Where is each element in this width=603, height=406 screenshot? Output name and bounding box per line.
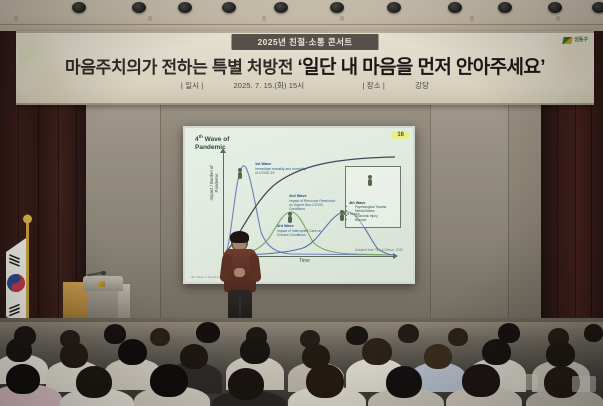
audience-head-front	[6, 364, 40, 394]
ceiling-spotlight-icon	[498, 2, 512, 13]
speaker-arm-right	[248, 253, 261, 282]
annotation-wave-1-text: Immediate mortality and morbidity of COV…	[255, 167, 306, 175]
annotation-wave-4-list: Psychological Trauma Mental Illness Econ…	[349, 205, 386, 222]
event-banner: 2025년 친절·소통 콘서트 마음주치의가 전하는 특별 처방전 ‘일단 내 …	[16, 31, 594, 105]
audience-head	[398, 324, 419, 343]
audience-head-front	[228, 368, 264, 400]
audience-head	[424, 344, 452, 369]
ceiling-spotlight-icon	[132, 2, 146, 13]
flag-pole	[26, 220, 29, 332]
annotation-wave-2-text: Impact of Resource Restriction on Urgent…	[289, 199, 335, 212]
ceiling-spotlight-icon	[222, 2, 236, 13]
slide-page-number: 16	[392, 131, 409, 139]
logo-mark-icon	[562, 37, 572, 44]
annotation-wave-4-box: 4th Wave Psychological Trauma Mental Ill…	[345, 166, 401, 228]
audience-head-front	[150, 364, 188, 397]
ceiling-vent	[14, 16, 18, 21]
auditorium-photo: 2025년 친절·소통 콘서트 마음주치의가 전하는 특별 처방전 ‘일단 내 …	[0, 0, 603, 406]
audience-head-front	[462, 364, 500, 397]
flag-pole-finial-icon	[23, 215, 32, 224]
ceiling-vent	[262, 16, 266, 21]
audience-area	[0, 322, 603, 406]
logo-text: 성동구	[574, 38, 588, 43]
audience-head	[240, 337, 270, 364]
lectern-microphone-head-icon	[101, 271, 106, 275]
ceiling-seam	[0, 24, 603, 25]
audience-head	[180, 344, 208, 369]
speaker-hands-with-microphone	[234, 268, 245, 277]
ceiling-spotlight-icon	[330, 2, 344, 13]
ceiling-spotlight-icon	[387, 2, 401, 13]
audience-head	[482, 339, 511, 365]
speaker-hair	[230, 231, 249, 243]
ceiling-spotlight-icon	[448, 2, 462, 13]
audience-head	[362, 338, 392, 365]
audience-head	[60, 342, 88, 368]
ceiling	[0, 0, 603, 31]
speaker-person	[218, 232, 262, 324]
audience-head-front	[76, 366, 112, 398]
banner-header-label: 2025년 친절·소통 콘서트	[231, 34, 378, 50]
korean-flag	[2, 212, 58, 332]
banner-place-label: | 장소 |	[362, 81, 384, 90]
banner-date: | 일시 | 2025. 7. 15.(화) 15시	[167, 81, 318, 90]
chart-source-note: Adapted from Tsai & Wilson, 2020	[355, 248, 403, 252]
person-body-icon	[288, 216, 292, 223]
audience-head	[196, 322, 220, 343]
slide-footer-note: 4th Wave of Pandemic	[191, 275, 221, 279]
banner-title-quote: ‘일단 내 마음을 먼저 안아주세요’	[297, 57, 545, 78]
audience-chair	[572, 376, 596, 392]
audience-chair	[512, 374, 538, 390]
ceiling-vent	[470, 16, 474, 21]
banner-main-title: 마음주치의가 전하는 특별 처방전 ‘일단 내 마음을 먼저 안아주세요’	[16, 52, 594, 79]
banner-subline: | 일시 | 2025. 7. 15.(화) 15시 | 장소 | 강당	[16, 80, 594, 91]
organization-logo: 성동구	[563, 37, 588, 44]
audience-head	[546, 341, 575, 367]
annotation-wave-2: 2nd Wave Impact of Resource Restriction …	[289, 194, 337, 211]
audience-head	[6, 338, 32, 362]
ceiling-spotlight-icon	[178, 2, 192, 13]
audience-head	[150, 328, 170, 346]
banner-place: | 장소 | 강당	[348, 81, 443, 90]
annotation-wave-3-text: Impact of Interrupted Care on Chronic Co…	[277, 229, 321, 237]
wave4-bullet: Burnout	[355, 218, 386, 222]
slide-title-rest: Wave of	[203, 136, 230, 143]
audience-head-front	[386, 366, 422, 398]
banner-title-prefix: 마음주치의가 전하는 특별 처방전	[65, 58, 293, 77]
banner-date-value: 2025. 7. 15.(화) 15시	[234, 81, 305, 90]
ceiling-spotlight-icon	[548, 2, 562, 13]
audience-head	[448, 328, 468, 346]
person-body-icon	[238, 172, 242, 179]
banner-date-label: | 일시 |	[181, 81, 203, 90]
person-body-icon	[368, 179, 372, 186]
annotation-wave-1: 1st Wave Immediate mortality and morbidi…	[255, 162, 307, 175]
ceiling-spotlight-icon	[274, 2, 288, 13]
banner-place-value: 강당	[415, 81, 429, 90]
annotation-wave-3: 3rd Wave Impact of Interrupted Care on C…	[277, 224, 323, 237]
audience-head	[584, 324, 603, 342]
ceiling-vent	[340, 16, 344, 21]
ceiling-spotlight-icon	[72, 2, 86, 13]
ceiling-vent	[556, 16, 560, 21]
lectern-emblem-icon	[97, 281, 105, 287]
audience-head-front	[306, 364, 344, 398]
ceiling-spotlight-icon	[592, 2, 603, 13]
audience-head	[118, 339, 147, 365]
ceiling-vent	[148, 16, 152, 21]
